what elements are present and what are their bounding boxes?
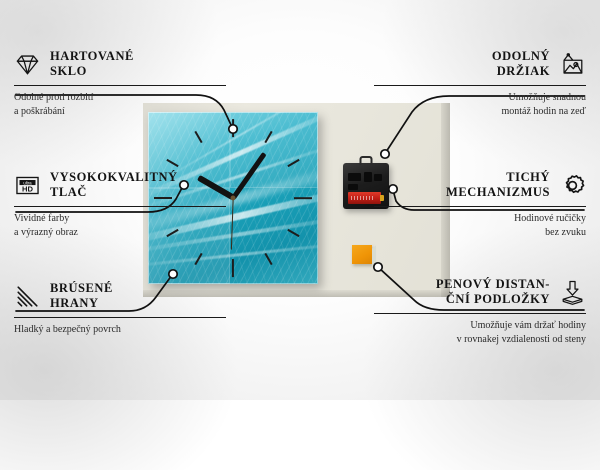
svg-text:HD: HD bbox=[22, 184, 33, 193]
connector-dot-edges bbox=[169, 270, 177, 278]
diamond-icon bbox=[14, 51, 41, 78]
feature-high-quality-print: ultra HD VYSOKOKVALITNÝ TLAČ Vividné far… bbox=[14, 168, 226, 239]
feature-header: PENOVÝ DISTAN- ČNÍ PODLOŽKY bbox=[374, 275, 586, 309]
ultra-hd-icon: ultra HD bbox=[14, 172, 41, 199]
ground-edges-icon bbox=[14, 283, 41, 310]
feature-description: Odolné proti rozbití a poškrábání bbox=[14, 91, 226, 118]
wall-mount-icon bbox=[559, 51, 586, 78]
feature-foam-spacers: PENOVÝ DISTAN- ČNÍ PODLOŽKY Umožňuje vám… bbox=[374, 275, 586, 346]
feature-header: ultra HD VYSOKOKVALITNÝ TLAČ bbox=[14, 168, 226, 202]
feature-silent-mechanism: TICHÝ MECHANIZMUS Hodinové ručičky bez z… bbox=[374, 168, 586, 239]
feature-tempered-glass: HARTOVANÉ SKLO Odolné proti rozbití a po… bbox=[14, 47, 226, 118]
infographic-canvas: HARTOVANÉ SKLO Odolné proti rozbití a po… bbox=[0, 0, 600, 400]
feature-description: Umožňuje snadnou montáž hodin na zeď bbox=[374, 91, 586, 118]
feature-description: Vividné farby a výrazný obraz bbox=[14, 212, 226, 239]
feature-description: Hodinové ručičky bez zvuku bbox=[374, 212, 586, 239]
feature-title: VYSOKOKVALITNÝ TLAČ bbox=[50, 170, 178, 201]
connector-dot-glass bbox=[229, 125, 237, 133]
feature-divider bbox=[374, 206, 586, 207]
feature-durable-holder: ODOLNÝ DRŽIAK Umožňuje snadnou montáž ho… bbox=[374, 47, 586, 118]
feature-description: Umožňuje vám držať hodiny v rovnakej vzd… bbox=[374, 319, 586, 346]
feature-divider bbox=[374, 85, 586, 86]
feature-header: ODOLNÝ DRŽIAK bbox=[374, 47, 586, 81]
feature-divider bbox=[14, 206, 226, 207]
feature-title: HARTOVANÉ SKLO bbox=[50, 49, 134, 80]
clock-center-cap bbox=[231, 196, 236, 201]
foam-pad-icon bbox=[559, 279, 586, 306]
feature-description: Hladký a bezpečný povrch bbox=[14, 323, 226, 337]
connector-dot-holder bbox=[381, 150, 389, 158]
feature-divider bbox=[14, 85, 226, 86]
gear-icon bbox=[559, 172, 586, 199]
feature-divider bbox=[14, 317, 226, 318]
feature-title: TICHÝ MECHANIZMUS bbox=[446, 170, 550, 201]
feature-ground-edges: BRÚSENÉ HRANY Hladký a bezpečný povrch bbox=[14, 279, 226, 337]
connector-dot-foam bbox=[374, 263, 382, 271]
feature-header: BRÚSENÉ HRANY bbox=[14, 279, 226, 313]
feature-header: TICHÝ MECHANIZMUS bbox=[374, 168, 586, 202]
feature-title: ODOLNÝ DRŽIAK bbox=[492, 49, 550, 80]
feature-divider bbox=[374, 313, 586, 314]
feature-title: PENOVÝ DISTAN- ČNÍ PODLOŽKY bbox=[436, 277, 550, 308]
feature-header: HARTOVANÉ SKLO bbox=[14, 47, 226, 81]
feature-title: BRÚSENÉ HRANY bbox=[50, 281, 113, 312]
